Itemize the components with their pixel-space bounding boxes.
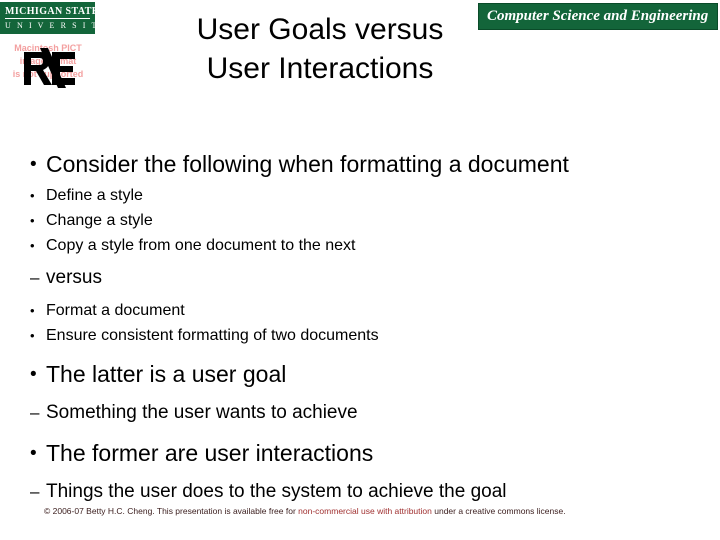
bullet-item-things-user-does: – Things the user does to the system to … bbox=[28, 478, 718, 506]
bullet-item-consider: • Consider the following when formatting… bbox=[28, 148, 718, 181]
bullet-glyph-icon: – bbox=[30, 478, 39, 506]
bullet-item-change-a-style: • Change a style bbox=[28, 208, 718, 233]
bullet-item-format-a-document: • Format a document bbox=[28, 298, 718, 323]
bullet-list-level1: • Consider the following when formatting… bbox=[28, 148, 718, 181]
bullet-glyph-icon: • bbox=[30, 298, 35, 323]
bullet-item-ensure-consistent-formatting: • Ensure consistent formatting of two do… bbox=[28, 323, 718, 348]
bullet-item-define-a-style: • Define a style bbox=[28, 183, 718, 208]
bullet-list-level2-something: – Something the user wants to achieve bbox=[28, 399, 718, 427]
re-logo-icon bbox=[18, 48, 78, 88]
bullet-text: Things the user does to the system to ac… bbox=[46, 481, 507, 502]
bullet-text: Change a style bbox=[46, 212, 153, 229]
slide-body: • Consider the following when formatting… bbox=[28, 148, 718, 506]
spacer bbox=[28, 427, 718, 437]
bullet-glyph-icon: • bbox=[30, 437, 37, 470]
bullet-list-level2-things: – Things the user does to the system to … bbox=[28, 478, 718, 506]
footer-part1: © 2006-07 Betty H.C. Cheng. This present… bbox=[44, 506, 298, 516]
bullet-item-the-latter-is-a-user-goal: • The latter is a user goal bbox=[28, 358, 718, 391]
footer-part2: under a creative commons license. bbox=[432, 506, 566, 516]
bullet-text: The former are user interactions bbox=[46, 440, 373, 466]
msu-logo: MICHIGAN STATE U N I V E R S I T Y bbox=[0, 2, 95, 34]
bullet-item-copy-a-style: • Copy a style from one document to the … bbox=[28, 233, 718, 258]
spacer bbox=[28, 348, 718, 358]
bullet-glyph-icon: • bbox=[30, 183, 35, 208]
bullet-glyph-icon: • bbox=[30, 208, 35, 233]
msu-logo-line2: U N I V E R S I T Y bbox=[5, 19, 90, 31]
bullet-glyph-icon: • bbox=[30, 358, 37, 391]
bullet-glyph-icon: • bbox=[30, 233, 35, 258]
bullet-list-level3-b: • Format a document • Ensure consistent … bbox=[28, 298, 718, 348]
bullet-glyph-icon: • bbox=[30, 323, 35, 348]
bullet-text: versus bbox=[46, 267, 102, 288]
bullet-item-versus: – versus bbox=[28, 264, 718, 292]
bullet-list-level1-latter: • The latter is a user goal bbox=[28, 358, 718, 391]
slide-title: User Goals versus User Interactions bbox=[120, 10, 520, 88]
bullet-list-level1-former: • The former are user interactions bbox=[28, 437, 718, 470]
bullet-item-the-former-are-user-interactions: • The former are user interactions bbox=[28, 437, 718, 470]
bullet-text: Define a style bbox=[46, 187, 143, 204]
bullet-glyph-icon: • bbox=[30, 148, 37, 181]
bullet-text: Something the user wants to achieve bbox=[46, 402, 358, 423]
bullet-text: Copy a style from one document to the ne… bbox=[46, 237, 356, 254]
bullet-item-something-user-wants: – Something the user wants to achieve bbox=[28, 399, 718, 427]
slide-title-line1: User Goals versus bbox=[120, 10, 520, 49]
bullet-text: Format a document bbox=[46, 302, 185, 319]
bullet-list-level3-a: • Define a style • Change a style • Copy… bbox=[28, 183, 718, 258]
footer-copyright: © 2006-07 Betty H.C. Cheng. This present… bbox=[44, 506, 566, 517]
pict-image-placeholder: Macintosh PICT image format is not suppo… bbox=[0, 42, 96, 88]
slide-title-line2: User Interactions bbox=[120, 49, 520, 88]
footer-highlight: non-commercial use with attribution bbox=[298, 506, 432, 516]
bullet-list-level2-versus: – versus bbox=[28, 264, 718, 292]
bullet-text: Consider the following when formatting a… bbox=[46, 151, 569, 177]
bullet-glyph-icon: – bbox=[30, 264, 39, 292]
msu-logo-line1: MICHIGAN STATE bbox=[5, 6, 90, 19]
bullet-glyph-icon: – bbox=[30, 399, 39, 427]
bullet-text: Ensure consistent formatting of two docu… bbox=[46, 327, 379, 344]
bullet-text: The latter is a user goal bbox=[46, 361, 286, 387]
